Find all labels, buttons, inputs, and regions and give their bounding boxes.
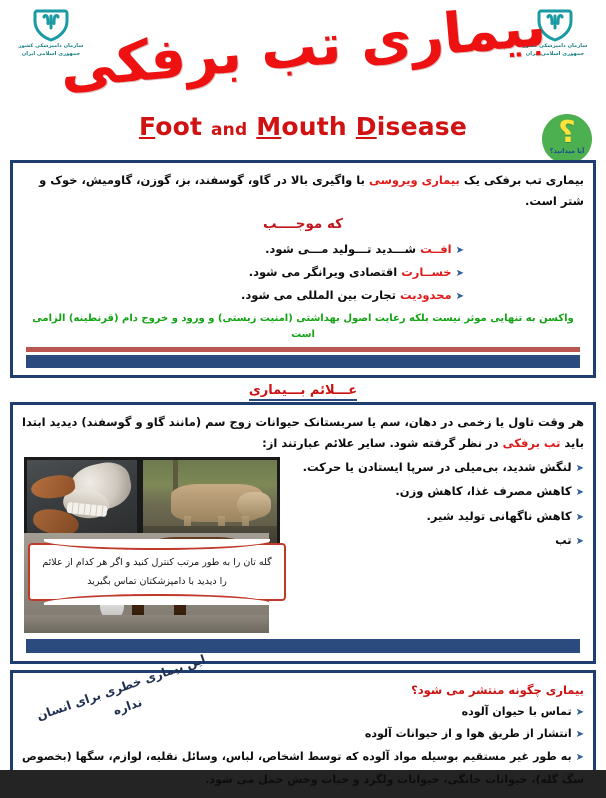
symptoms-bullet-2: کاهش ناگهانی تولید شیر. — [426, 509, 571, 523]
transmission-body: این بیماری خطری برای انسان نداره ➤تماس ب… — [22, 701, 584, 791]
list-item: ➤به طور غیر مستقیم بوسیله مواد آلوده که … — [22, 746, 584, 791]
symptoms-bullet-0: لنگش شدید، بی‌میلی در سرپا ایستادن یا حر… — [303, 460, 572, 474]
intro-bullet-list: ➤افــت شـــدید تـــولید مـــی شود. ➤خســ… — [22, 238, 584, 307]
bullet-arrow-icon: ➤ — [576, 707, 584, 718]
bullet-arrow-icon: ➤ — [576, 487, 584, 498]
section-intro: بیماری تب برفکی یک بیماری ویروسی با واگی… — [10, 160, 596, 378]
intro-lead-line: بیماری تب برفکی یک بیماری ویروسی با واگی… — [22, 170, 584, 213]
title-en-and: and — [211, 120, 247, 140]
symptoms-heading-text: عـــلائم بـــیماری — [249, 383, 357, 401]
intro-bullet-1-rest: اقتصادی ویرانگر می شود. — [249, 265, 402, 279]
did-you-know-label: آیا میدانید؟ — [550, 147, 585, 155]
bullet-arrow-icon: ➤ — [576, 729, 584, 740]
bullet-arrow-icon: ➤ — [576, 463, 584, 474]
bullet-arrow-icon: ➤ — [456, 268, 464, 279]
veterinarian-contact-callout: گله تان را به طور مرتب کنترل کنید و اگر … — [28, 543, 286, 601]
title-en-m: M — [256, 112, 281, 141]
symptoms-body: گله تان را به طور مرتب کنترل کنید و اگر … — [22, 455, 584, 635]
poster-header: سازمان دامپزشکی کشور جمهوری اسلامی ایران… — [0, 0, 606, 160]
symptoms-intro-b: در نظر گرفته شود. سایر علائم عبارتند از: — [262, 436, 502, 450]
title-en-outh: outh — [281, 112, 347, 141]
symptoms-heading: عـــلائم بـــیماری — [0, 383, 606, 398]
transmission-heading: بیماری چگونه منتشر می شود؟ — [22, 680, 584, 701]
symptoms-bullet-3: تب — [555, 533, 572, 547]
intro-bullet-2-highlight: محدودیت — [400, 288, 452, 302]
intro-bullet-0-rest: شـــدید تـــولید مـــی شود. — [265, 242, 420, 256]
transmission-bullet-0: تماس با حیوان آلوده — [462, 705, 572, 718]
list-item: ➤تماس با حیوان آلوده — [22, 701, 584, 724]
section-transmission: بیماری چگونه منتشر می شود؟ این بیماری خط… — [10, 670, 596, 798]
poster-title-farsi: بیماری تب برفکی — [0, 0, 606, 107]
intro-lead-highlight: بیماری ویروسی — [369, 173, 460, 187]
list-item: ➤خســارت اقتصادی ویرانگر می شود. — [22, 261, 584, 284]
list-item: ➤محدودیت تجارت بین المللی می شود. — [22, 284, 584, 307]
poster-sheet: سازمان دامپزشکی کشور جمهوری اسلامی ایران… — [0, 0, 606, 770]
title-en-d: D — [356, 112, 377, 141]
bullet-arrow-icon: ➤ — [456, 245, 464, 256]
question-mark-icon: ؟ — [558, 120, 575, 146]
bullet-arrow-icon: ➤ — [456, 291, 464, 302]
symptoms-bullet-1: کاهش مصرف غذا، کاهش وزن. — [395, 484, 571, 498]
intro-center-red: که موجــــب — [22, 216, 584, 232]
symptoms-intro-highlight: تب برفکی — [503, 436, 561, 450]
bullet-arrow-icon: ➤ — [576, 752, 584, 763]
intro-bullet-1-highlight: خســارت — [401, 265, 451, 279]
intro-bullet-0-highlight: افــت — [420, 242, 452, 256]
bullet-arrow-icon: ➤ — [576, 536, 584, 547]
poster-root: سازمان دامپزشکی کشور جمهوری اسلامی ایران… — [0, 0, 606, 798]
symptoms-bullet-list: ➤لنگش شدید، بی‌میلی در سرپا ایستادن یا ح… — [22, 455, 584, 552]
transmission-bullet-2: به طور غیر مستقیم بوسیله مواد آلوده که ت… — [22, 750, 584, 786]
transmission-bullet-1: انتشار از طریق هوا و از حیوانات آلوده — [365, 727, 572, 740]
divider-bar-blue — [26, 355, 580, 368]
list-item: ➤انتشار از طریق هوا و از حیوانات آلوده — [22, 723, 584, 746]
section-symptoms: هر وقت تاول یا زخمی در دهان، سم یا سربست… — [10, 402, 596, 665]
list-item: ➤افــت شـــدید تـــولید مـــی شود. — [22, 238, 584, 261]
transmission-bullet-list: ➤تماس با حیوان آلوده ➤انتشار از طریق هوا… — [22, 701, 584, 791]
divider-bar-red — [26, 347, 580, 352]
intro-green-note: واکسن به تنهایی موثر نیست بلکه رعایت اصو… — [22, 311, 584, 343]
intro-lead-prefix: بیماری تب برفکی یک — [460, 173, 584, 187]
symptoms-intro-text: هر وقت تاول یا زخمی در دهان، سم یا سربست… — [22, 412, 584, 456]
intro-bullet-2-rest: تجارت بین المللی می شود. — [241, 288, 400, 302]
poster-title-english: Foot and Mouth Disease — [0, 112, 606, 141]
list-item: ➤لنگش شدید، بی‌میلی در سرپا ایستادن یا ح… — [22, 455, 584, 479]
title-en-isease: isease — [377, 112, 467, 141]
title-en-oot: oot — [155, 112, 202, 141]
bullet-arrow-icon: ➤ — [576, 512, 584, 523]
did-you-know-badge[interactable]: ؟ آیا میدانید؟ — [542, 114, 592, 164]
list-item: ➤کاهش ناگهانی تولید شیر. — [22, 504, 584, 528]
divider-bar-blue — [26, 639, 580, 653]
title-en-f: F — [139, 112, 155, 141]
list-item: ➤کاهش مصرف غذا، کاهش وزن. — [22, 479, 584, 503]
